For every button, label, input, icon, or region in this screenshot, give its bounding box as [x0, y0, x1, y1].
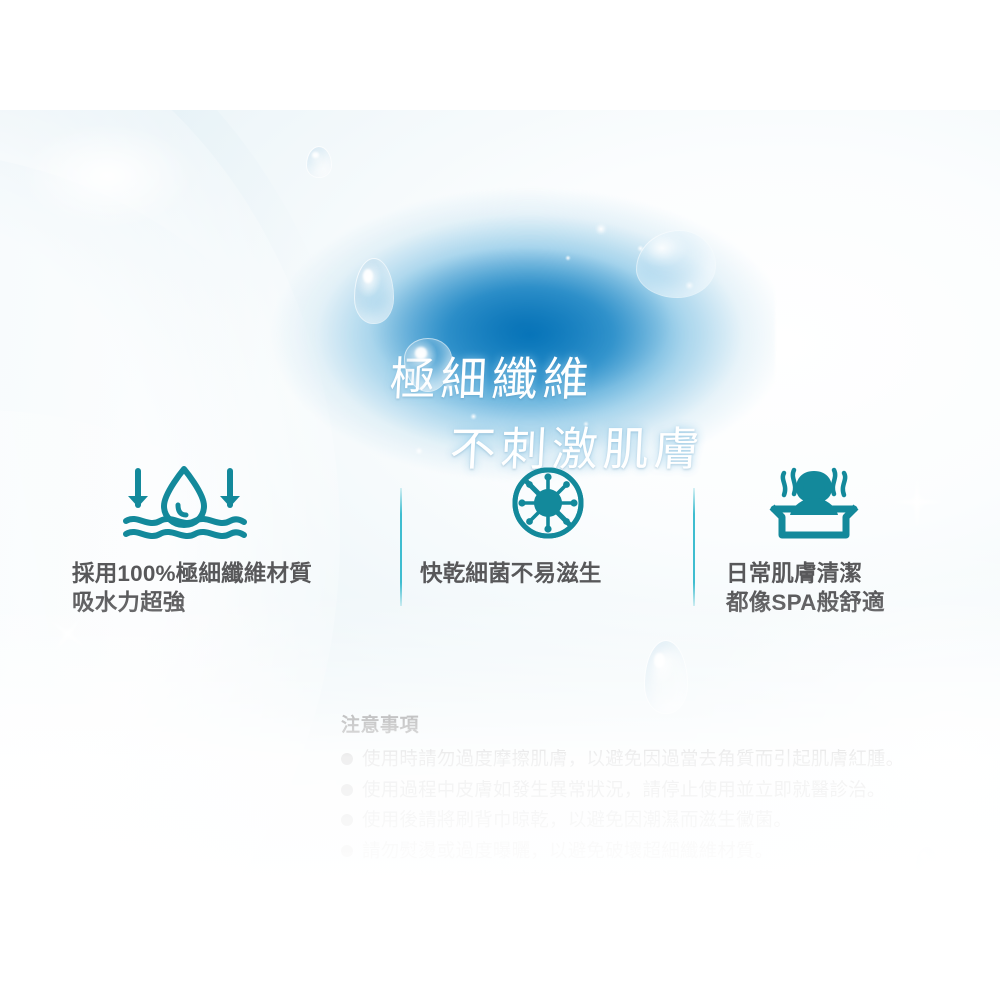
- headline: 極細纖維 不刺激肌膚: [265, 185, 775, 485]
- product-feature-banner: 極細纖維 不刺激肌膚: [0, 0, 1000, 1000]
- feature-icon-wrap: [726, 465, 976, 541]
- feature-icon-wrap: [72, 465, 382, 541]
- headline-line-1: 極細纖維: [388, 343, 595, 409]
- hero-banner: 極細纖維 不刺激肌膚: [265, 185, 775, 485]
- feature-icon-wrap: [420, 465, 675, 541]
- feature-caption: 快乾細菌不易滋生: [420, 559, 675, 588]
- spa-bath-icon: [768, 465, 860, 541]
- feature-item-antibacterial: 快乾細菌不易滋生: [420, 465, 675, 588]
- feature-divider: [693, 488, 695, 606]
- feature-divider: [400, 488, 402, 606]
- no-bacteria-icon: [510, 465, 586, 541]
- water-absorb-icon: [120, 465, 248, 541]
- artwork-canvas: 極細纖維 不刺激肌膚: [0, 110, 1000, 892]
- background-wash-bottom: [0, 592, 1000, 892]
